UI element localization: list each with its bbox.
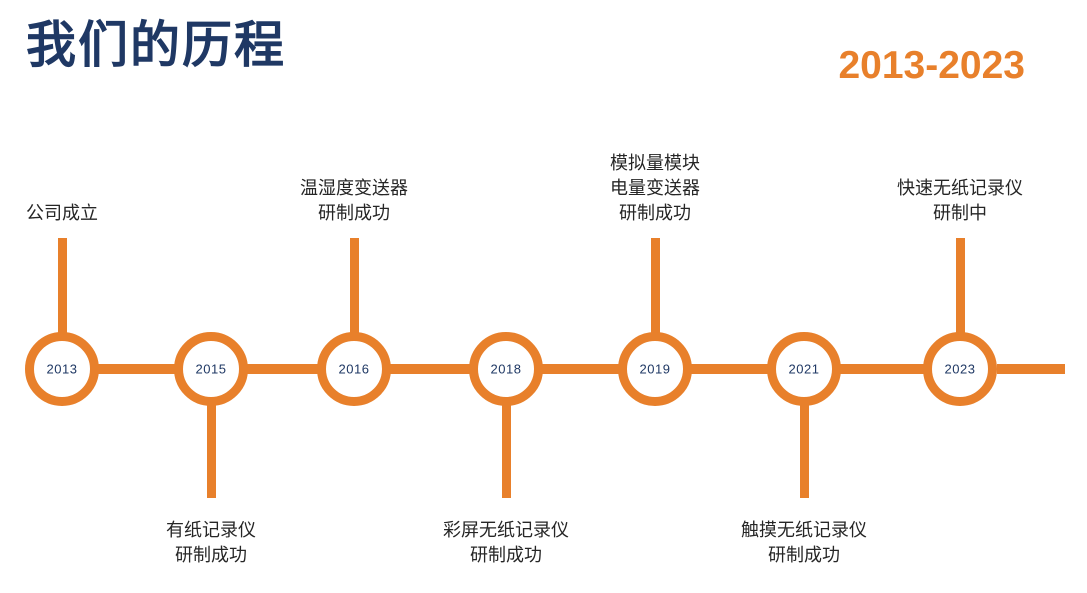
timeline-connector [97, 364, 176, 374]
timeline-label-line: 研制成功 [166, 543, 256, 568]
timeline-node-year: 2015 [183, 363, 239, 376]
timeline-connector [839, 364, 925, 374]
timeline-label-line: 快速无纸记录仪 [897, 176, 1023, 201]
timeline-connector [389, 364, 471, 374]
timeline-label-line: 触摸无纸记录仪 [741, 518, 867, 543]
timeline-label-2023: 快速无纸记录仪研制中 [897, 176, 1023, 226]
timeline-label-line: 研制成功 [443, 543, 569, 568]
timeline-connector [690, 364, 769, 374]
timeline-node-2019[interactable]: 2019 [618, 332, 692, 406]
timeline-label-line: 研制中 [897, 201, 1023, 226]
timeline-label-line: 彩屏无纸记录仪 [443, 518, 569, 543]
timeline-node-year: 2023 [932, 363, 988, 376]
timeline-label-line: 研制成功 [610, 201, 700, 226]
timeline-node-year: 2013 [34, 363, 90, 376]
timeline-tail [997, 364, 1065, 374]
timeline-node-year: 2016 [326, 363, 382, 376]
timeline-label-2015: 有纸记录仪研制成功 [166, 518, 256, 568]
timeline-connector [541, 364, 620, 374]
timeline-node-year: 2018 [478, 363, 534, 376]
timeline-label-2019: 模拟量模块电量变送器研制成功 [610, 151, 700, 226]
timeline-label-2018: 彩屏无纸记录仪研制成功 [443, 518, 569, 568]
timeline-label-line: 模拟量模块 [610, 151, 700, 176]
timeline-node-2013[interactable]: 2013 [25, 332, 99, 406]
timeline-node-2021[interactable]: 2021 [767, 332, 841, 406]
timeline-label-line: 有纸记录仪 [166, 518, 256, 543]
timeline-node-2018[interactable]: 2018 [469, 332, 543, 406]
timeline-label-line: 公司成立 [26, 201, 98, 226]
timeline-label-line: 温湿度变送器 [300, 176, 408, 201]
timeline-node-2015[interactable]: 2015 [174, 332, 248, 406]
timeline-node-year: 2019 [627, 363, 683, 376]
slide-canvas: 我们的历程 2013-2023 2013公司成立2015有纸记录仪研制成功201… [0, 0, 1087, 593]
timeline: 2013公司成立2015有纸记录仪研制成功2016温湿度变送器研制成功2018彩… [0, 0, 1087, 593]
timeline-label-line: 研制成功 [741, 543, 867, 568]
timeline-node-year: 2021 [776, 363, 832, 376]
timeline-label-line: 研制成功 [300, 201, 408, 226]
timeline-label-2013: 公司成立 [26, 201, 98, 226]
timeline-node-2016[interactable]: 2016 [317, 332, 391, 406]
timeline-label-2016: 温湿度变送器研制成功 [300, 176, 408, 226]
timeline-node-2023[interactable]: 2023 [923, 332, 997, 406]
timeline-label-2021: 触摸无纸记录仪研制成功 [741, 518, 867, 568]
timeline-label-line: 电量变送器 [610, 176, 700, 201]
timeline-connector [246, 364, 319, 374]
